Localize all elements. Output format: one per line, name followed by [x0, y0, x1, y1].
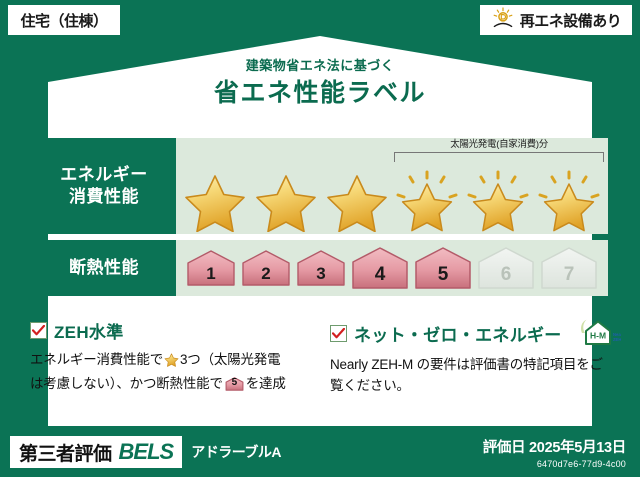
grade-value: 4 — [375, 264, 386, 291]
energy-consumption-label: エネルギー 消費性能 — [32, 138, 176, 234]
grade-badge-1: 1 — [185, 248, 237, 288]
star-sparkle-4 — [394, 170, 460, 232]
checkmark-icon — [330, 325, 347, 342]
star-sparkle-5 — [465, 170, 531, 232]
zeh-standard-title: ZEH水準 — [54, 318, 124, 343]
evaluation-date-label: 評価日 — [483, 440, 526, 456]
info-columns: ZEH水準 エネルギー消費性能で3つ（太陽光発電は考慮しない）、かつ断熱性能で5… — [30, 318, 610, 397]
svg-text:H-M: H-M — [590, 331, 606, 341]
zeh-body-part2: は考慮しない）、かつ断熱性能で — [30, 376, 223, 391]
zeh-body-part3: を達成 — [246, 376, 286, 391]
grade-badge-2: 2 — [240, 248, 292, 288]
footer-bar: 第三者評価 BELS アドラーブルA 評価日 2025年5月13日 6470d7… — [0, 427, 640, 477]
net-zero-heading: ネット・ゼロ・エネルギー H-M Nearly ZEH-M — [330, 318, 610, 348]
grade-value: 6 — [501, 264, 512, 291]
star-rating — [176, 170, 608, 232]
solar-bracket-label: 太陽光発電(自家消費)分 — [394, 140, 604, 152]
checkmark-icon — [30, 322, 47, 339]
grade-badge-4: 4 — [350, 245, 410, 291]
insulation-label-text: 断熱性能 — [69, 257, 139, 279]
insulation-rating-body: 1 2 3 4 — [176, 240, 608, 296]
grade-badge-5: 5 — [413, 245, 473, 291]
evaluation-date-value: 2025年5月13日 — [529, 440, 626, 456]
inline-grade-badge: 5 — [225, 376, 244, 392]
zeh-standard-heading: ZEH水準 — [30, 318, 310, 343]
evaluation-id: 6470d7e6-77d9-4c00 — [483, 459, 626, 469]
third-party-evaluation-label: 第三者評価 — [19, 439, 112, 466]
grade-value: 1 — [206, 264, 215, 288]
sun-solar-icon — [491, 7, 515, 33]
renewable-badge-label: 再エネ設備あり — [520, 10, 622, 31]
energy-performance-label: 住宅（住棟） 再エネ設備あり 建築物省エネ法に基づく 省エネ性能ラベル — [0, 0, 640, 477]
evaluation-info: 評価日 2025年5月13日 6470d7e6-77d9-4c00 — [483, 436, 626, 469]
grade-value: 7 — [564, 264, 575, 291]
grade-value: 2 — [261, 264, 270, 288]
zeh-m-house-logo: H-M Nearly ZEH-M — [569, 318, 621, 348]
renewable-equipment-badge: 再エネ設備あり — [480, 5, 632, 35]
grade-badge-6: 6 — [476, 245, 536, 291]
insulation-grade-scale: 1 2 3 4 — [176, 240, 608, 296]
zeh-standard-block: ZEH水準 エネルギー消費性能で3つ（太陽光発電は考慮しない）、かつ断熱性能で5… — [30, 318, 310, 397]
net-zero-energy-block: ネット・ゼロ・エネルギー H-M Nearly ZEH-M Nearly ZEH… — [330, 318, 610, 397]
star-filled-1 — [182, 170, 248, 232]
star-filled-3 — [324, 170, 390, 232]
grade-value: 3 — [316, 264, 325, 288]
energy-rating-body: 太陽光発電(自家消費)分 — [176, 138, 608, 234]
energy-consumption-row: エネルギー 消費性能 太陽光発電(自家消費)分 — [32, 138, 608, 234]
building-type-tag: 住宅（住棟） — [8, 5, 120, 35]
grade-badge-7: 7 — [539, 245, 599, 291]
grade-badge-3: 3 — [295, 248, 347, 288]
zeh-standard-body: エネルギー消費性能で3つ（太陽光発電は考慮しない）、かつ断熱性能で5を達成 — [30, 350, 310, 395]
building-type-tag-label: 住宅（住棟） — [20, 10, 107, 31]
energy-label-line2: 消費性能 — [69, 186, 139, 208]
star-filled-2 — [253, 170, 319, 232]
solar-generation-bracket: 太陽光発電(自家消費)分 — [394, 140, 604, 168]
zeh-body-star-count: 3つ（太陽光発電 — [180, 352, 280, 367]
bracket-line — [394, 152, 604, 162]
zeh-body-part1: エネルギー消費性能で — [30, 352, 163, 367]
bels-evaluation-box: 第三者評価 BELS — [10, 436, 182, 468]
inline-grade-value: 5 — [225, 375, 244, 391]
svg-text:ZEH-M: ZEH-M — [613, 337, 621, 342]
insulation-performance-row: 断熱性能 1 — [32, 240, 608, 296]
insulation-label: 断熱性能 — [32, 240, 176, 296]
inline-star-icon — [164, 355, 179, 370]
net-zero-title: ネット・ゼロ・エネルギー — [354, 321, 562, 346]
net-zero-body: Nearly ZEH-M の要件は評価書の特記項目をご覧ください。 — [330, 355, 610, 397]
evaluation-date: 評価日 2025年5月13日 — [483, 436, 626, 457]
grade-value: 5 — [438, 264, 449, 291]
star-sparkle-6 — [536, 170, 602, 232]
building-name: アドラーブルA — [191, 442, 281, 462]
bels-mark: BELS — [119, 439, 174, 465]
energy-label-line1: エネルギー — [60, 164, 148, 186]
